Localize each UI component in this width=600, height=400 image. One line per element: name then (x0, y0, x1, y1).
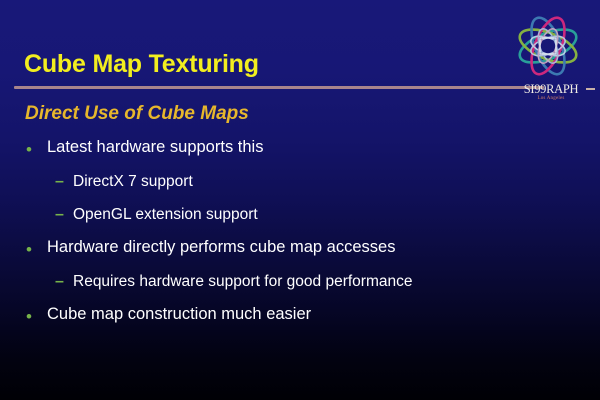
list-item: • Cube map construction much easier (0, 305, 600, 339)
list-item: • Hardware directly performs cube map ac… (0, 238, 600, 272)
dash-marker-icon: – (55, 273, 64, 290)
bullet-list: • Latest hardware supports this – Direct… (0, 138, 600, 339)
bullet-marker-icon: • (26, 308, 32, 325)
list-item-label: Latest hardware supports this (47, 138, 263, 157)
title-divider (14, 86, 544, 89)
logo-dash-right (586, 88, 595, 90)
slide-subtitle: Direct Use of Cube Maps (25, 103, 249, 125)
list-item: – DirectX 7 support (0, 172, 600, 205)
slide-canvas: Cube Map Texturing Direct Use of Cube Ma… (0, 0, 600, 400)
siggraph-city-label: Los Angeles (504, 96, 598, 101)
list-item: • Latest hardware supports this (0, 138, 600, 172)
bullet-marker-icon: • (26, 241, 32, 258)
list-item-label: DirectX 7 support (73, 173, 193, 191)
dash-marker-icon: – (55, 206, 64, 223)
siggraph-logo: SI99RAPH Los Angeles (498, 8, 598, 104)
siggraph-wordmark: SI99RAPH (504, 82, 598, 97)
list-item: – Requires hardware support for good per… (0, 272, 600, 305)
list-item-label: Cube map construction much easier (47, 305, 311, 324)
siggraph-rings-icon (498, 8, 598, 86)
dash-marker-icon: – (55, 173, 64, 190)
list-item: – OpenGL extension support (0, 205, 600, 238)
page-title: Cube Map Texturing (24, 50, 259, 79)
bullet-marker-icon: • (26, 141, 32, 158)
list-item-label: Hardware directly performs cube map acce… (47, 238, 395, 257)
list-item-label: Requires hardware support for good perfo… (73, 273, 412, 291)
list-item-label: OpenGL extension support (73, 206, 258, 224)
